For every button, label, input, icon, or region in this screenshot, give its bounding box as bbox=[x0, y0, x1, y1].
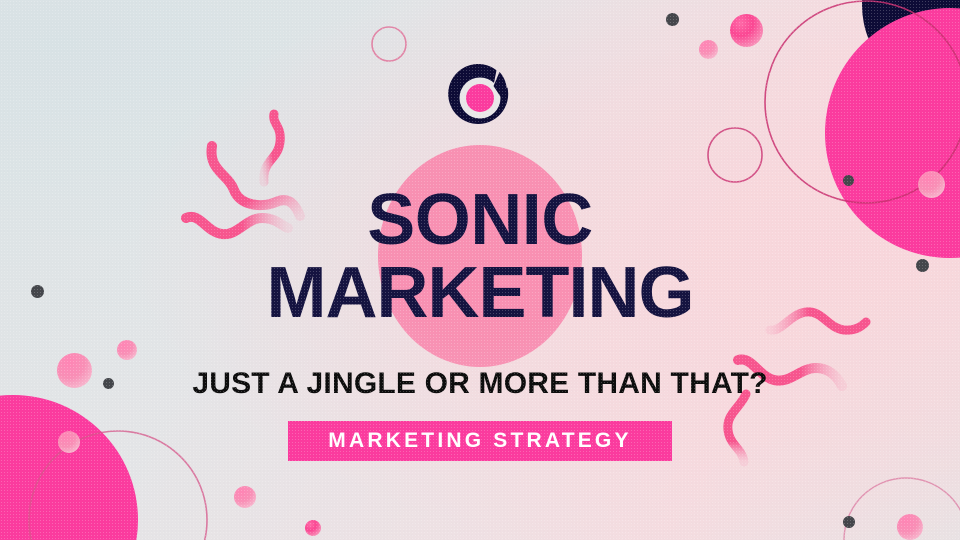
decor-dot-pink-bottom-mid bbox=[305, 520, 321, 536]
category-badge: MARKETING STRATEGY bbox=[288, 421, 672, 461]
decor-dot-pink-bottom-left bbox=[58, 431, 80, 453]
subtitle-text: JUST A JINGLE OR MORE THAN THAT? bbox=[0, 367, 960, 401]
logo-svg bbox=[444, 62, 516, 134]
decor-dot-pink-bottom-center bbox=[234, 486, 256, 508]
page-title: SONIC MARKETING bbox=[0, 186, 960, 328]
decor-thin-ring-top-center bbox=[368, 23, 410, 65]
decor-dot-pink-top-a bbox=[730, 14, 763, 47]
decor-thin-ring-bottom-left bbox=[18, 420, 218, 540]
title-line-2: MARKETING bbox=[0, 259, 960, 328]
decor-dot-pink-left-b bbox=[117, 340, 137, 360]
decor-dot-grey-bottom-right bbox=[843, 175, 854, 186]
category-badge-label: MARKETING STRATEGY bbox=[328, 429, 631, 453]
poster-canvas: SONIC MARKETING JUST A JINGLE OR MORE TH… bbox=[0, 0, 960, 540]
decor-dot-grey-bottom-center bbox=[843, 516, 855, 528]
sonic-circle-logo-icon bbox=[444, 62, 516, 134]
decor-dot-grey-top bbox=[666, 13, 679, 26]
title-line-1: SONIC bbox=[0, 186, 960, 255]
decor-dot-pink-top-b bbox=[699, 40, 718, 59]
decor-dot-pink-bottom-far-right bbox=[897, 514, 923, 540]
